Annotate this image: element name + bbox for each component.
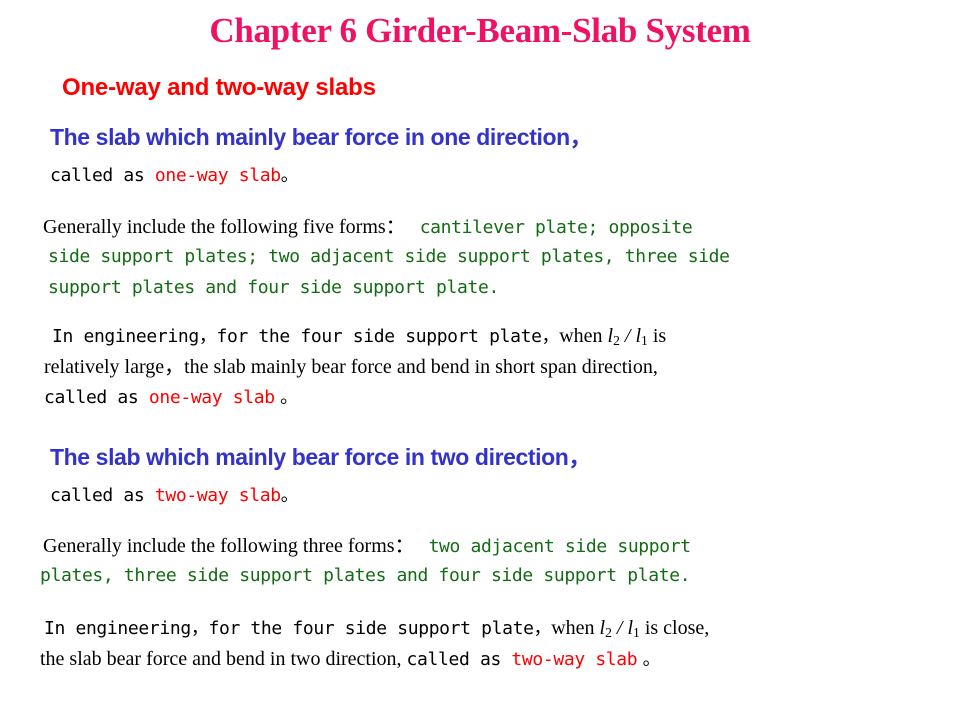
- engineering-body-two: the slab bear force and bend in two dire…: [40, 648, 407, 670]
- called-as-suffix-four: 。: [637, 649, 660, 670]
- called-as-suffix-two: 。: [275, 387, 298, 408]
- slide-subtitle: One-way and two-way slabs: [62, 74, 376, 102]
- forms-intro-three: Generally include the following three fo…: [43, 535, 415, 557]
- section-one-engineering-line-1: In engineering，for the four side support…: [52, 325, 666, 348]
- called-as-prefix-four: called as: [407, 649, 512, 670]
- called-as-prefix: called as: [50, 165, 155, 186]
- ratio-l2-subscript: 2: [613, 333, 620, 348]
- engineering-intro-one: In engineering，for the four side support…: [52, 326, 559, 347]
- forms-two-text-part-1: two adjacent side support: [429, 536, 691, 557]
- called-as-suffix: 。: [281, 165, 299, 186]
- forms-two-text-part-2: plates, three side support plates and fo…: [40, 565, 690, 586]
- called-as-prefix-two: called as: [44, 387, 149, 408]
- called-as-suffix-three: 。: [281, 485, 299, 506]
- term-one-way-slab-2: one-way slab: [149, 387, 275, 408]
- forms-text-part-3: support plates and four side support pla…: [48, 277, 499, 298]
- forms-text-part-2: side support plates; two adjacent side s…: [48, 246, 730, 267]
- section-one-forms-line-2: side support plates; two adjacent side s…: [48, 247, 730, 267]
- span-ratio-formula-one: l2 / l1: [608, 325, 648, 347]
- slide-root: { "slide": { "title": "Chapter 6 Girder-…: [0, 0, 960, 720]
- term-one-way-slab: one-way slab: [155, 165, 281, 186]
- section-two-engineering-line-1: In engineering，for the four side support…: [44, 617, 709, 640]
- page-title: Chapter 6 Girder-Beam-Slab System: [0, 11, 960, 51]
- section-two-called-line: called as two-way slab。: [50, 483, 298, 507]
- section-one-forms-line-3: support plates and four side support pla…: [48, 278, 499, 298]
- called-as-prefix-three: called as: [50, 485, 155, 506]
- section-one-called-line: called as one-way slab。: [50, 163, 298, 187]
- ratio-l2-subscript-2: 2: [605, 625, 612, 640]
- section-two-engineering-line-2: the slab bear force and bend in two dire…: [40, 648, 660, 671]
- engineering-tail-two: is close,: [640, 617, 709, 639]
- engineering-tail-one: is: [648, 325, 666, 347]
- section-two-forms-line-2: plates, three side support plates and fo…: [40, 566, 690, 586]
- ratio-separator-two: /: [612, 617, 628, 639]
- forms-intro-five: Generally include the following five for…: [43, 216, 406, 238]
- section-two-heading: The slab which mainly bear force in two …: [50, 445, 591, 471]
- term-two-way-slab-2: two-way slab: [511, 649, 637, 670]
- when-label-one: when: [559, 325, 607, 347]
- section-one-heading: The slab which mainly bear force in one …: [50, 125, 592, 151]
- section-one-engineering-line-3: called as one-way slab 。: [44, 388, 298, 408]
- section-two-forms-line-1: Generally include the following three fo…: [43, 535, 691, 558]
- when-label-two: when: [551, 617, 599, 639]
- term-two-way-slab: two-way slab: [155, 485, 281, 506]
- section-one-engineering-line-2: relatively large，the slab mainly bear fo…: [44, 356, 658, 379]
- ratio-l1-subscript: 1: [641, 333, 648, 348]
- ratio-separator-one: /: [620, 325, 636, 347]
- section-one-forms-line-1: Generally include the following five for…: [43, 216, 692, 239]
- forms-text-part-1: cantilever plate; opposite: [420, 217, 693, 238]
- span-ratio-formula-two: l2 / l1: [600, 617, 640, 639]
- engineering-intro-two: In engineering，for the four side support…: [44, 618, 551, 639]
- ratio-l1-subscript-2: 1: [633, 625, 640, 640]
- engineering-body-one: relatively large，the slab mainly bear fo…: [44, 356, 658, 378]
